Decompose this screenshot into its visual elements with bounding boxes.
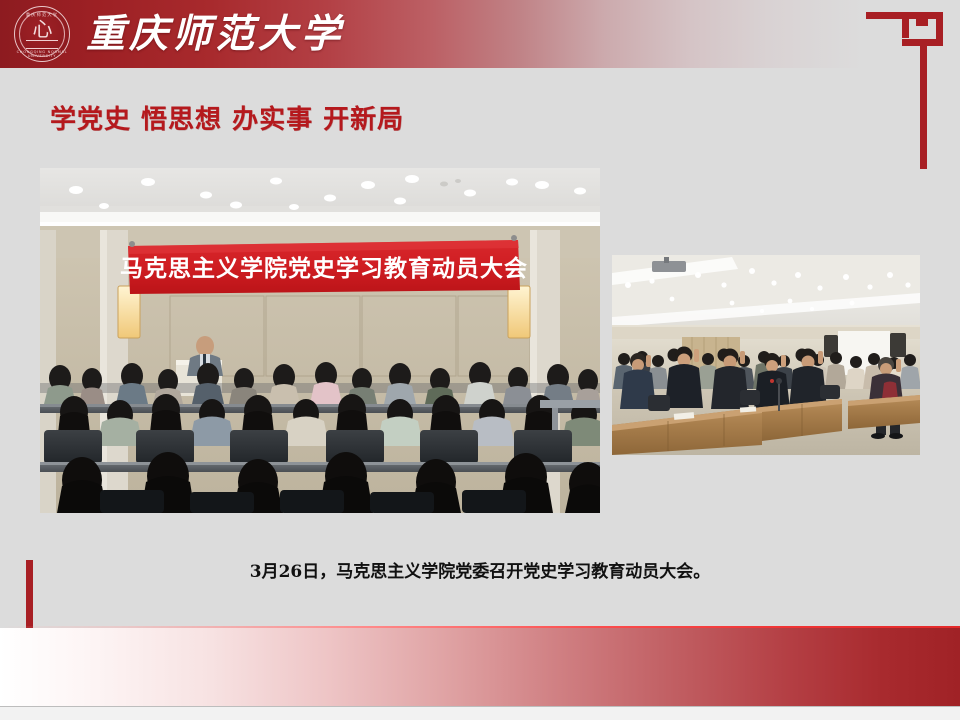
page-title: 学党史 悟思想 办实事 开新局 [50,104,404,136]
footer-edge-strip [0,706,960,720]
university-name-wordmark: 重庆师范大学 [86,11,344,57]
presentation-slide: 重庆师范大学 心 CHONGQING NORMAL UNIVERSITY 重庆师… [0,0,960,720]
photo-caption: 3月26日，马克思主义学院党委召开党史学习教育动员大会。 [0,560,960,584]
seal-ring-bottom-text: CHONGQING NORMAL UNIVERSITY [15,50,69,58]
seal-center-glyph: 心 [15,19,69,39]
footer-gradient-band [0,628,960,706]
seal-book-icon [26,40,58,49]
standing-attendees-photo [612,255,920,455]
header-brand-group: 重庆师范大学 心 CHONGQING NORMAL UNIVERSITY 重庆师… [0,0,344,68]
banner-text: 马克思主义学院党史学习教育动员大会 [120,255,528,282]
slide-header-banner: 重庆师范大学 心 CHONGQING NORMAL UNIVERSITY 重庆师… [0,0,960,68]
university-seal-icon: 重庆师范大学 心 CHONGQING NORMAL UNIVERSITY [14,6,70,62]
footer-edge-divider [0,706,960,707]
mobilization-meeting-audience-photo: 马克思主义学院党史学习教育动员大会 [40,168,600,513]
standing-attendees-photo-graphic [612,255,920,455]
audience-photo-graphic: 马克思主义学院党史学习教育动员大会 [40,168,600,513]
